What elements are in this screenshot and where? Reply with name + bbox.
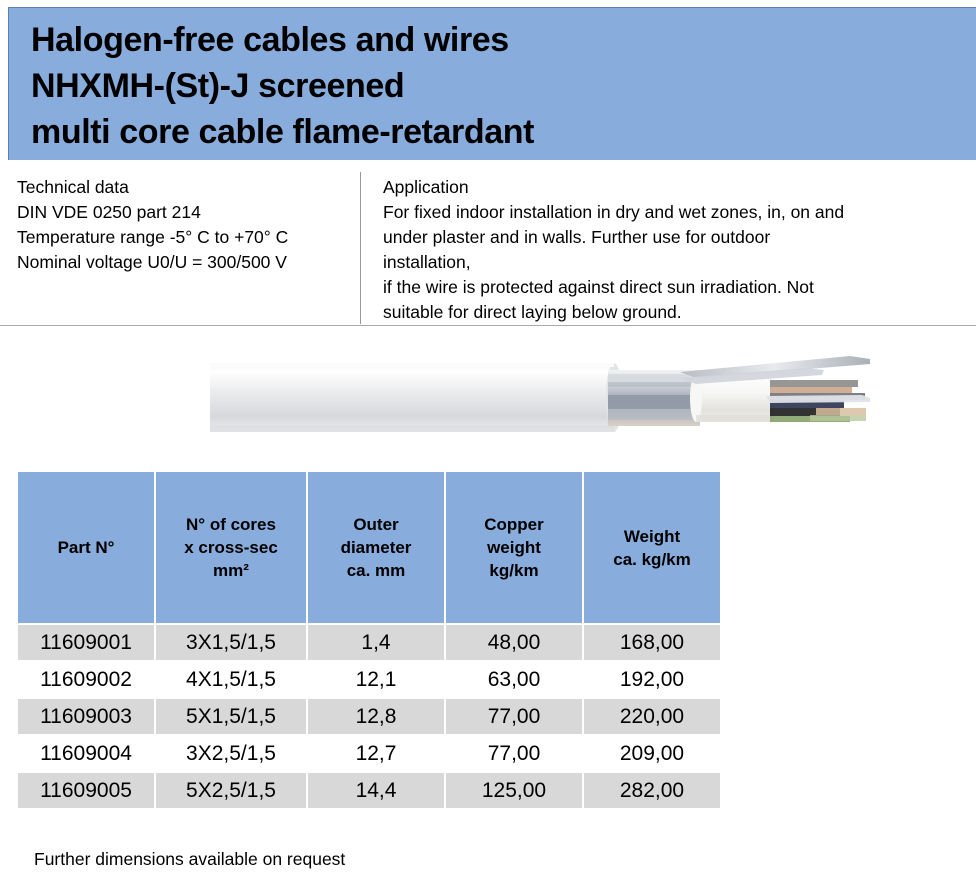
header-banner: Halogen-free cables and wires NHXMH-(St)… (8, 7, 976, 160)
table-header-row: Part N° N° of cores x cross-sec mm² Oute… (18, 472, 720, 623)
cell-part-no: 11609002 (18, 662, 154, 697)
cell-weight: 209,00 (584, 736, 720, 771)
column-header-outer-line-3: ca. mm (347, 561, 406, 580)
application-block: Application For fixed indoor installatio… (383, 175, 953, 325)
cell-cores: 5X1,5/1,5 (156, 699, 306, 734)
cell-part-no: 11609004 (18, 736, 154, 771)
application-line-2: under plaster and in walls. Further use … (383, 225, 953, 250)
column-header-copper-line-3: kg/km (489, 561, 538, 580)
cell-copper-weight: 77,00 (446, 736, 582, 771)
application-line-1: For fixed indoor installation in dry and… (383, 200, 953, 225)
table-row: 11609004 3X2,5/1,5 12,7 77,00 209,00 (18, 736, 720, 771)
column-header-cores-line-3: mm² (213, 561, 249, 580)
cell-outer-diameter: 12,7 (308, 736, 444, 771)
cell-cores: 5X2,5/1,5 (156, 773, 306, 808)
cell-weight: 192,00 (584, 662, 720, 697)
application-line-5: suitable for direct laying below ground. (383, 300, 953, 325)
page-title-line-3: multi core cable flame-retardant (31, 109, 976, 155)
table-row: 11609002 4X1,5/1,5 12,1 63,00 192,00 (18, 662, 720, 697)
column-header-cores-line-1: N° of cores (186, 515, 276, 534)
application-line-3: installation, (383, 250, 953, 275)
cell-weight: 220,00 (584, 699, 720, 734)
column-header-outer-line-2: diameter (341, 538, 412, 557)
cell-part-no: 11609001 (18, 625, 154, 660)
column-header-weight-line-2: ca. kg/km (613, 550, 691, 569)
technical-data-line-1: DIN VDE 0250 part 214 (17, 200, 353, 225)
cell-outer-diameter: 12,8 (308, 699, 444, 734)
cell-outer-diameter: 12,1 (308, 662, 444, 697)
technical-data-line-3: Nominal voltage U0/U = 300/500 V (17, 250, 353, 275)
footer-note: Further dimensions available on request (34, 848, 345, 870)
cell-cores: 3X1,5/1,5 (156, 625, 306, 660)
column-header-weight: Weight ca. kg/km (584, 472, 720, 623)
cable-product-photo (210, 352, 870, 444)
cable-cutaway-illustration (210, 352, 870, 444)
cell-copper-weight: 77,00 (446, 699, 582, 734)
table-row: 11609003 5X1,5/1,5 12,8 77,00 220,00 (18, 699, 720, 734)
column-header-outer-diameter: Outer diameter ca. mm (308, 472, 444, 623)
application-heading: Application (383, 175, 953, 200)
cell-cores: 4X1,5/1,5 (156, 662, 306, 697)
info-vertical-divider (360, 172, 361, 324)
column-header-part-no-label: Part N° (58, 538, 115, 557)
cell-outer-diameter: 14,4 (308, 773, 444, 808)
column-header-cores-line-2: x cross-sec (184, 538, 278, 557)
technical-data-block: Technical data DIN VDE 0250 part 214 Tem… (17, 175, 353, 275)
table-row: 11609005 5X2,5/1,5 14,4 125,00 282,00 (18, 773, 720, 808)
table-row: 11609001 3X1,5/1,5 1,4 48,00 168,00 (18, 625, 720, 660)
column-header-copper-line-1: Copper (484, 515, 544, 534)
cell-outer-diameter: 1,4 (308, 625, 444, 660)
cell-copper-weight: 125,00 (446, 773, 582, 808)
technical-data-heading: Technical data (17, 175, 353, 200)
column-header-part-no: Part N° (18, 472, 154, 623)
cell-weight: 282,00 (584, 773, 720, 808)
cell-part-no: 11609003 (18, 699, 154, 734)
column-header-outer-line-1: Outer (353, 515, 398, 534)
info-bottom-divider (0, 325, 976, 326)
specifications-table: Part N° N° of cores x cross-sec mm² Oute… (16, 470, 722, 810)
cell-cores: 3X2,5/1,5 (156, 736, 306, 771)
cell-copper-weight: 63,00 (446, 662, 582, 697)
cell-weight: 168,00 (584, 625, 720, 660)
page-title-line-2: NHXMH-(St)-J screened (31, 63, 976, 109)
cell-copper-weight: 48,00 (446, 625, 582, 660)
cell-part-no: 11609005 (18, 773, 154, 808)
column-header-cores: N° of cores x cross-sec mm² (156, 472, 306, 623)
page-title-line-1: Halogen-free cables and wires (31, 17, 976, 63)
column-header-weight-line-1: Weight (624, 527, 680, 546)
column-header-copper-weight: Copper weight kg/km (446, 472, 582, 623)
info-section: Technical data DIN VDE 0250 part 214 Tem… (0, 166, 976, 328)
cable-outer-sheath (210, 363, 622, 432)
application-line-4: if the wire is protected against direct … (383, 275, 953, 300)
table-body: 11609001 3X1,5/1,5 1,4 48,00 168,00 1160… (18, 625, 720, 808)
technical-data-line-2: Temperature range -5° C to +70° C (17, 225, 353, 250)
column-header-copper-line-2: weight (487, 538, 541, 557)
